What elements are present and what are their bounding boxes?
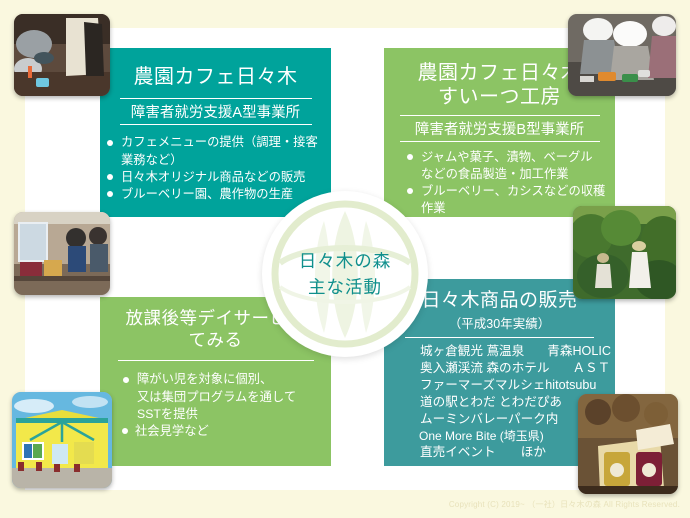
list-item: ファーマーズマルシェhitotsubu	[391, 377, 615, 394]
list-item: カフェメニューの提供（調理・接客	[106, 134, 331, 150]
list-item: SSTを提供	[122, 406, 331, 422]
panel-subtitle: 障害者就労支援B型事業所	[400, 115, 600, 142]
list-item: 業務など）	[106, 152, 331, 168]
sales-outlet: 奥入瀬渓流 森のホテル	[406, 360, 549, 377]
footer-copyright: Copyright (C) 2019~ （一社）日々木の森 All Rights…	[0, 499, 690, 510]
panel-title-line2: すいーつ工房	[438, 86, 561, 108]
panel-subtitle: 障害者就労支援A型事業所	[120, 98, 312, 125]
bullet-dot	[407, 154, 413, 160]
photo-blueberry-harvest	[573, 206, 676, 299]
list-item-label: 城ヶ倉観光 蔦温泉	[420, 344, 524, 358]
sales-outlet: 直売イベント ほか	[406, 444, 546, 461]
panel-title: 農園カフェ日々木	[100, 48, 331, 89]
center-hub-circle: 日々木の森 主な活動	[262, 191, 428, 357]
photo-food-processing	[568, 14, 676, 96]
list-item: 社会見学など	[122, 423, 331, 439]
list-item-label: 障がい児を対象に個別、	[137, 372, 272, 386]
bullet-dot	[107, 174, 113, 180]
list-item-label: 青森HOLIC	[547, 344, 611, 358]
list-item: 日々木オリジナル商品などの販売	[106, 169, 331, 185]
sales-outlet: 青森HOLIC	[533, 343, 611, 360]
list-item-label: 業務など）	[121, 153, 183, 167]
list-item-label: などの食品製造・加工作業	[421, 167, 569, 181]
list-item: 又は集団プログラムを通して	[122, 389, 331, 405]
list-item-label: 道の駅とわだ とわだぴあ	[420, 395, 562, 409]
photo-market-stall	[14, 212, 110, 295]
hub-label: 日々木の森 主な活動	[262, 191, 428, 357]
list-item-label: 又は集団プログラムを通して	[137, 390, 296, 404]
bullet-dot	[107, 140, 113, 146]
list-item-label: ファーマーズマルシェhitotsubu	[420, 378, 596, 392]
list-item: 奥入瀬渓流 森のホテルＡＳＴ	[391, 360, 615, 377]
list-item-label: 日々木オリジナル商品などの販売	[121, 170, 305, 184]
sales-outlet: 道の駅とわだ とわだぴあ	[406, 394, 562, 411]
list-item-label: SSTを提供	[137, 407, 198, 421]
title-divider	[405, 337, 594, 338]
list-item: などの食品製造・加工作業	[406, 166, 615, 182]
list-item-label: 奥入瀬渓流 森のホテル	[420, 361, 549, 375]
list-item: ジャムや菓子、漬物、ベーグル	[406, 149, 615, 165]
hub-label-line2: 主な活動	[308, 274, 382, 300]
list-item: 障がい児を対象に個別、	[122, 371, 331, 387]
panel-item-list: 障がい児を対象に個別、 又は集団プログラムを通して SSTを提供 社会見学など	[122, 371, 331, 439]
list-item-label: カフェメニューの提供（調理・接客	[121, 135, 318, 149]
list-item-label: ブルーベリー、カシスなどの収穫	[421, 184, 605, 198]
panel-title-line1: 農園カフェ日々木	[418, 62, 582, 84]
bullet-dot	[122, 428, 128, 434]
list-item: ブルーベリー、カシスなどの収穫	[406, 183, 615, 199]
photo-cafe-kitchen	[14, 14, 110, 96]
hub-label-line1: 日々木の森	[299, 248, 392, 274]
list-item-label: ＡＳＴ	[572, 361, 610, 375]
list-item-label: ジャムや菓子、漬物、ベーグル	[421, 150, 593, 164]
list-item-label: One More Bite (埼玉県)	[419, 429, 544, 443]
panel-title-line2: てみる	[189, 330, 243, 350]
sales-outlet: ＡＳＴ	[558, 360, 610, 377]
list-item-label: ムーミンバレーパーク内	[420, 412, 558, 426]
photo-jam-gift-box	[578, 394, 678, 494]
bullet-dot	[107, 191, 113, 197]
list-item-label: 社会見学など	[135, 424, 209, 438]
sales-outlet: ファーマーズマルシェhitotsubu	[406, 377, 596, 394]
photo-yellow-building	[12, 392, 112, 488]
sales-outlet: ムーミンバレーパーク内	[406, 411, 558, 428]
title-divider	[118, 360, 314, 361]
bullet-dot	[123, 377, 129, 383]
slide-canvas: 農園カフェ日々木 障害者就労支援A型事業所 カフェメニューの提供（調理・接客 業…	[0, 0, 690, 518]
list-item-label: 直売イベント ほか	[420, 445, 546, 459]
